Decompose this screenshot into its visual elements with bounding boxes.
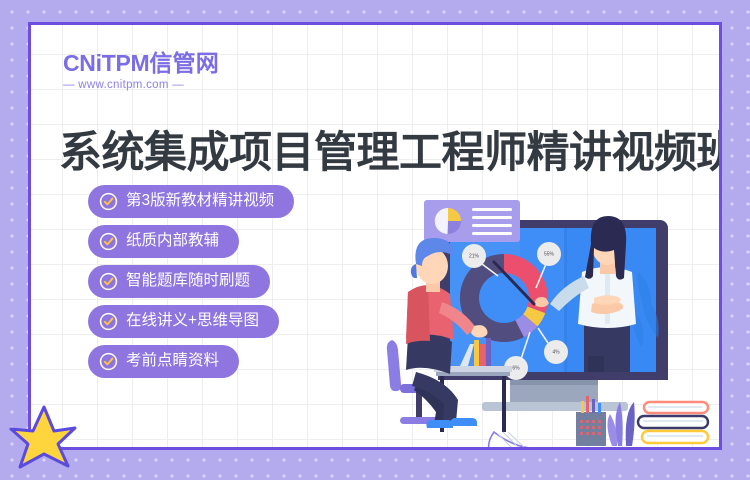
- check-circle-icon: [99, 272, 118, 291]
- check-circle-icon: [99, 192, 118, 211]
- feature-pill[interactable]: 第3版新教材精讲视频: [88, 185, 294, 218]
- svg-text:4%: 4%: [552, 349, 560, 355]
- check-circle-icon: [99, 312, 118, 331]
- website-url: — www.cnitpm.com —: [63, 79, 219, 91]
- stats-card: [424, 200, 520, 242]
- feature-pill[interactable]: 在线讲义+思维导图: [88, 305, 279, 338]
- logo-prefix: CNiTPM: [63, 50, 149, 76]
- page-title: 系统集成项目管理工程师精讲视频班: [59, 118, 722, 180]
- feature-pill[interactable]: 纸质内部教辅: [88, 225, 239, 258]
- svg-text:21%: 21%: [469, 253, 480, 259]
- feature-label: 智能题库随时刷题: [126, 273, 250, 290]
- logo-suffix: 信管网: [149, 50, 219, 76]
- poster-background: CNiTPM信管网 — www.cnitpm.com — 系统集成项目管理工程师…: [0, 0, 750, 480]
- brand-logo: CNiTPM信管网 — www.cnitpm.com —: [63, 51, 219, 91]
- star-icon: [8, 404, 78, 470]
- online-class-illustration: 21% 55% 4% 6%: [386, 180, 722, 450]
- check-circle-icon: [99, 232, 118, 251]
- feature-pill[interactable]: 智能题库随时刷题: [88, 265, 270, 298]
- feature-pill[interactable]: 考前点睛资料: [88, 345, 239, 378]
- feature-label: 第3版新教材精讲视频: [126, 193, 274, 210]
- content-card: CNiTPM信管网 — www.cnitpm.com — 系统集成项目管理工程师…: [28, 22, 722, 450]
- feature-label: 在线讲义+思维导图: [126, 313, 259, 330]
- feature-label: 考前点睛资料: [126, 353, 219, 370]
- svg-text:55%: 55%: [544, 251, 555, 257]
- logo-text: CNiTPM信管网: [63, 51, 219, 75]
- check-circle-icon: [99, 352, 118, 371]
- svg-text:6%: 6%: [512, 365, 520, 371]
- feature-label: 纸质内部教辅: [126, 233, 219, 250]
- feature-list: 第3版新教材精讲视频 纸质内部教辅 智能题库随时刷题: [88, 185, 294, 378]
